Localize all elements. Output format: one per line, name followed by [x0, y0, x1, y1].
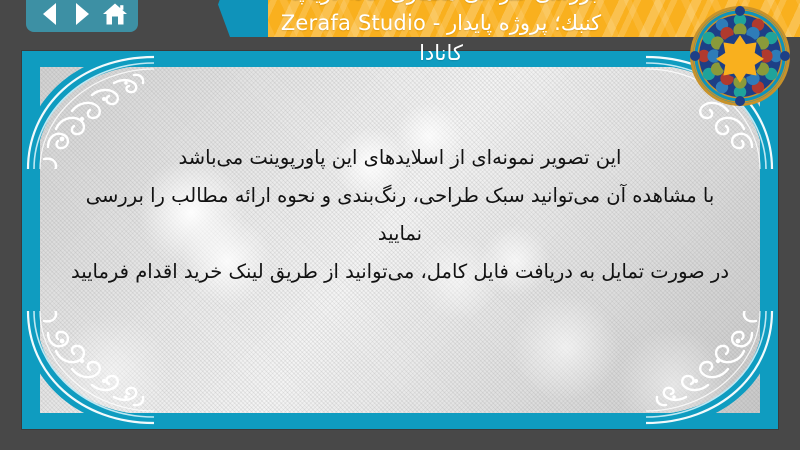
slide-body-text: این تصویر نمونه‌ای از اسلایدهای این پاور…: [62, 139, 738, 291]
home-button[interactable]: [101, 1, 129, 27]
presentation-slide[interactable]: این تصویر نمونه‌ای از اسلایدهای این پاور…: [22, 51, 778, 429]
slide-title: بررسی طراحی معماری خانه دریاچه کنبك؛ پرو…: [200, 0, 682, 68]
triangle-left-icon: [43, 3, 56, 25]
triangle-right-icon: [76, 3, 89, 25]
slide-viewer: این تصویر نمونه‌ای از اسلایدهای این پاور…: [0, 0, 800, 450]
next-slide-button[interactable]: [68, 1, 96, 27]
persian-medallion-icon: [688, 4, 792, 108]
previous-slide-button[interactable]: [35, 1, 63, 27]
home-icon: [102, 2, 128, 26]
navigation-toolbar: [26, 0, 138, 32]
